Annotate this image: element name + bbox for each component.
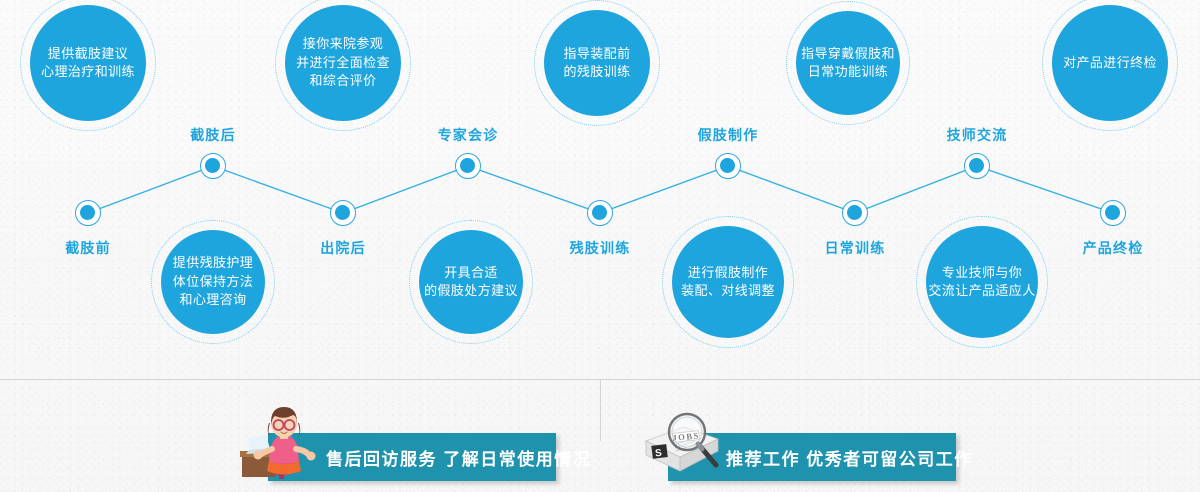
bubble-daily-training-detail[interactable]: 指导穿戴假肢和日常功能训练 <box>796 11 900 115</box>
bubble-tech-exchange-detail[interactable]: 专业技师与你交流让产品适应人 <box>926 226 1038 338</box>
bubble-prosthesis-make-detail[interactable]: 进行假肢制作装配、对线调整 <box>672 226 784 338</box>
banner-job-referral[interactable]: S JOBS 推荐工作 优秀者可留公司工作 <box>668 433 956 481</box>
bubble-final-check-detail[interactable]: 对产品进行终检 <box>1052 5 1168 121</box>
bubble-text-line: 日常功能训练 <box>808 63 888 81</box>
timeline-node-expert-consult[interactable] <box>455 153 481 179</box>
bubble-text-line: 进行假肢制作 <box>688 264 768 282</box>
banner-after-sales[interactable]: 售后回访服务 了解日常使用情况 <box>268 433 556 481</box>
bubble-stump-training-detail[interactable]: 指导装配前的残肢训练 <box>544 10 650 116</box>
timeline-label-final-check: 产品终检 <box>1083 238 1144 258</box>
bubble-expert-consult-detail[interactable]: 开具合适的假肢处方建议 <box>419 230 523 334</box>
timeline-node-final-check[interactable] <box>1100 200 1126 226</box>
bubble-post-discharge-detail[interactable]: 提供残肢护理体位保持方法和心理咨询 <box>161 230 265 334</box>
bubble-text-line: 指导装配前 <box>563 45 630 63</box>
timeline-node-pre-amputation[interactable] <box>75 200 101 226</box>
timeline-node-daily-training[interactable] <box>842 200 868 226</box>
timeline-node-post-amputation[interactable] <box>200 153 226 179</box>
bubble-text-line: 的假肢处方建议 <box>424 282 518 300</box>
newspaper-magnifier-jobs-illustration: S JOBS <box>640 405 726 481</box>
timeline-label-post-discharge: 出院后 <box>320 238 366 258</box>
timeline-node-prosthesis-make[interactable] <box>715 153 741 179</box>
bubble-text-line: 开具合适 <box>444 264 498 282</box>
bubble-text-line: 体位保持方法 <box>173 273 253 291</box>
bubble-text-line: 装配、对线调整 <box>681 282 775 300</box>
bubble-pre-amputation-detail[interactable]: 提供截肢建议心理治疗和训练 <box>30 5 146 121</box>
bubble-text-line: 提供残肢护理 <box>173 254 253 272</box>
timeline-node-stump-training[interactable] <box>587 200 613 226</box>
timeline-label-expert-consult: 专家会诊 <box>438 125 499 145</box>
bubble-text-line: 交流让产品适应人 <box>928 282 1035 300</box>
svg-text:S: S <box>655 448 664 460</box>
process-flow-infographic: 提供截肢建议心理治疗和训练接你来院参观并进行全面检查和综合评价提供残肢护理体位保… <box>0 0 1200 492</box>
bubble-text-line: 指导穿戴假肢和 <box>801 45 895 63</box>
bubble-text-line: 并进行全面检查 <box>296 54 390 72</box>
timeline-label-pre-amputation: 截肢前 <box>65 238 111 258</box>
woman-at-desk-illustration <box>240 405 326 481</box>
bubble-text-line: 专业技师与你 <box>942 264 1022 282</box>
timeline-label-daily-training: 日常训练 <box>825 238 886 258</box>
timeline-node-post-discharge[interactable] <box>330 200 356 226</box>
timeline-label-post-amputation: 截肢后 <box>190 125 236 145</box>
timeline-label-prosthesis-make: 假肢制作 <box>698 125 759 145</box>
vertical-divider <box>600 379 601 441</box>
bubble-text-line: 的残肢训练 <box>563 63 630 81</box>
bubble-post-amputation-detail[interactable]: 接你来院参观并进行全面检查和综合评价 <box>285 5 401 121</box>
timeline-label-stump-training: 残肢训练 <box>570 238 631 258</box>
bubble-text-line: 对产品进行终检 <box>1063 54 1157 72</box>
bubble-text-line: 和综合评价 <box>309 72 376 90</box>
bubble-text-line: 提供截肢建议 <box>48 45 128 63</box>
bubble-text-line: 和心理咨询 <box>179 291 246 309</box>
bubble-text-line: 心理治疗和训练 <box>41 63 135 81</box>
bubble-text-line: 接你来院参观 <box>303 35 383 53</box>
timeline-node-tech-exchange[interactable] <box>964 153 990 179</box>
timeline-label-tech-exchange: 技师交流 <box>947 125 1008 145</box>
